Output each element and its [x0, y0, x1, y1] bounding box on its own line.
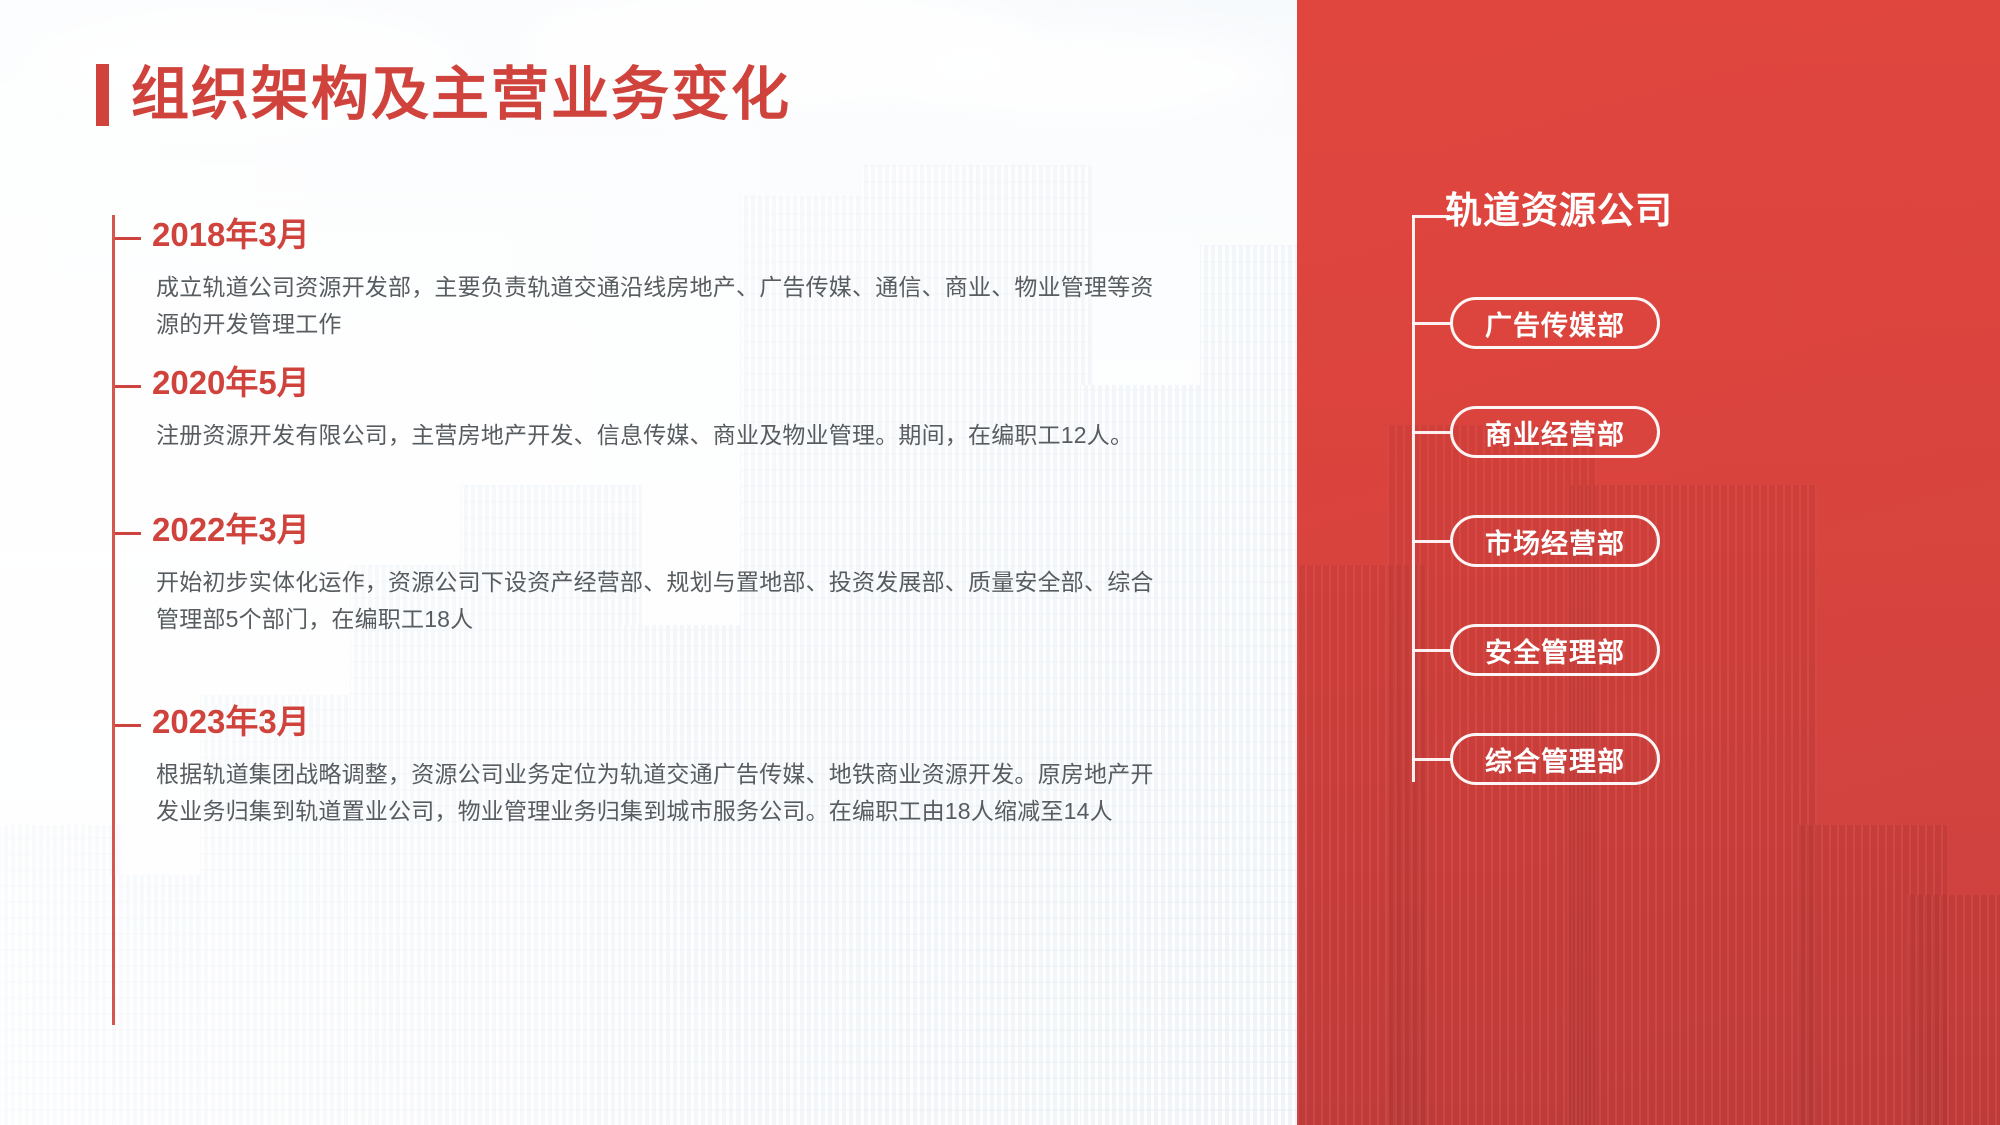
org-chart: 轨道资源公司 广告传媒部 商业经营部 市场经营部 安全管理部 综合管理部: [1297, 0, 2000, 1125]
timeline-date: 2022年3月: [152, 510, 310, 550]
title-accent-bar: [96, 64, 109, 126]
org-connector: [1412, 540, 1450, 543]
org-node-0[interactable]: 广告传媒部: [1450, 297, 1660, 349]
left-panel: 组织架构及主营业务变化 2018年3月 成立轨道公司资源开发部，主要负责轨道交通…: [0, 0, 1297, 1125]
timeline-body: 开始初步实体化运作，资源公司下设资产经营部、规划与置地部、投资发展部、质量安全部…: [156, 564, 1166, 639]
timeline-date: 2018年3月: [152, 215, 310, 255]
org-node-label: 商业经营部: [1485, 413, 1625, 452]
org-connector: [1412, 322, 1450, 325]
timeline-axis: [112, 215, 115, 1025]
org-connector: [1412, 431, 1450, 434]
org-node-label: 安全管理部: [1485, 631, 1625, 670]
org-node-1[interactable]: 商业经营部: [1450, 406, 1660, 458]
org-node-label: 市场经营部: [1485, 522, 1625, 561]
org-connector-root: [1412, 215, 1450, 218]
title-text: 组织架构及主营业务变化: [131, 66, 791, 124]
slide-root: 组织架构及主营业务变化 2018年3月 成立轨道公司资源开发部，主要负责轨道交通…: [0, 0, 2000, 1125]
timeline-body: 根据轨道集团战略调整，资源公司业务定位为轨道交通广告传媒、地铁商业资源开发。原房…: [156, 756, 1166, 831]
org-root-label: 轨道资源公司: [1445, 180, 1673, 234]
org-connector: [1412, 649, 1450, 652]
right-panel: 轨道资源公司 广告传媒部 商业经营部 市场经营部 安全管理部 综合管理部: [1297, 0, 2000, 1125]
org-spine-line: [1412, 215, 1415, 782]
org-node-4[interactable]: 综合管理部: [1450, 733, 1660, 785]
timeline-tick-icon: [115, 532, 141, 535]
org-node-3[interactable]: 安全管理部: [1450, 624, 1660, 676]
timeline-date: 2020年5月: [152, 363, 310, 403]
timeline-tick-icon: [115, 385, 141, 388]
timeline-tick-icon: [115, 724, 141, 727]
timeline-date: 2023年3月: [152, 702, 310, 742]
timeline: 2018年3月 成立轨道公司资源开发部，主要负责轨道交通沿线房地产、广告传媒、通…: [112, 215, 1272, 1025]
page-title: 组织架构及主营业务变化: [96, 64, 791, 126]
org-connector: [1412, 758, 1450, 761]
timeline-tick-icon: [115, 237, 141, 240]
timeline-body: 成立轨道公司资源开发部，主要负责轨道交通沿线房地产、广告传媒、通信、商业、物业管…: [156, 269, 1166, 344]
org-node-label: 广告传媒部: [1485, 304, 1625, 343]
org-node-2[interactable]: 市场经营部: [1450, 515, 1660, 567]
timeline-body: 注册资源开发有限公司，主营房地产开发、信息传媒、商业及物业管理。期间，在编职工1…: [156, 417, 1166, 454]
org-node-label: 综合管理部: [1485, 740, 1625, 779]
